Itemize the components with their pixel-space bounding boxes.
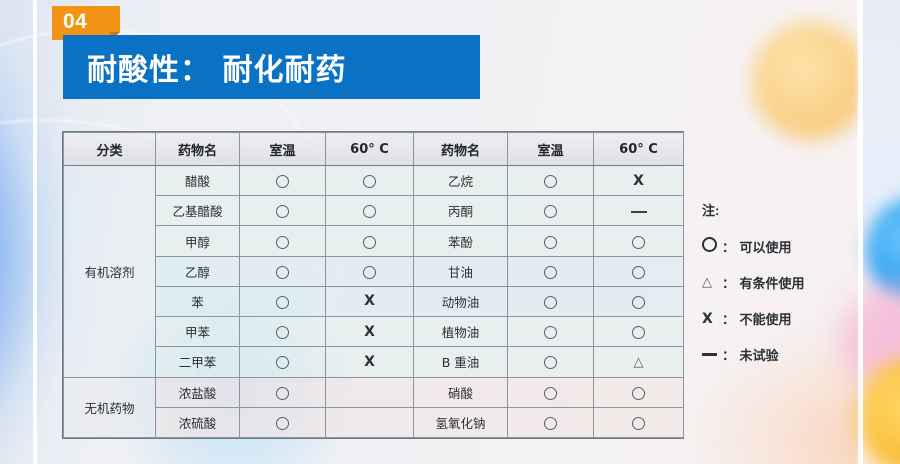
circle-icon (632, 236, 645, 249)
circle-icon (363, 205, 376, 218)
legend-item-label: ： 不能使用 (722, 309, 792, 328)
table-row: 乙基醋酸 丙酮 (64, 196, 684, 226)
cell-drug-left: 苯 (156, 286, 240, 316)
cell-60-right (594, 317, 684, 347)
cell-60-left (326, 256, 414, 286)
circle-icon (544, 296, 557, 309)
circle-icon (544, 356, 557, 369)
cross-icon: X (633, 173, 644, 189)
table-row: 甲苯 X 植物油 (64, 317, 684, 347)
triangle-icon: △ (702, 275, 722, 290)
circle-icon (544, 205, 557, 218)
cross-icon: X (702, 311, 722, 327)
legend-item-label: ： 未试验 (722, 345, 779, 364)
cell-drug-right: 硝酸 (414, 377, 508, 407)
circle-icon (544, 266, 557, 279)
circle-icon (276, 236, 289, 249)
cell-rt-right (508, 407, 594, 437)
circle-icon (544, 175, 557, 188)
circle-icon (276, 175, 289, 188)
cell-drug-right: 动物油 (414, 286, 508, 316)
chemical-resistance-table-container: 分类 药物名 室温 60° C 药物名 室温 60° C 有机溶剂 醋酸 乙烷 (62, 131, 684, 439)
cell-drug-right: B 重油 (414, 347, 508, 377)
cell-rt-right (508, 317, 594, 347)
cell-rt-right (508, 347, 594, 377)
table-row: 二甲苯 X B 重油 △ (64, 347, 684, 377)
cell-drug-left: 乙醇 (156, 256, 240, 286)
circle-icon (632, 266, 645, 279)
th-roomtemp-right: 室温 (508, 133, 594, 166)
circle-icon (363, 266, 376, 279)
cell-rt-right (508, 226, 594, 256)
table-row: 苯 X 动物油 (64, 286, 684, 316)
cell-60-left: X (326, 286, 414, 316)
cell-60-right (594, 226, 684, 256)
circle-icon (544, 387, 557, 400)
circle-icon (276, 387, 289, 400)
circle-icon (276, 326, 289, 339)
cross-icon: X (364, 293, 375, 309)
th-category: 分类 (64, 133, 156, 166)
circle-icon (544, 326, 557, 339)
legend-item-usable: ： 可以使用 (702, 237, 852, 256)
cross-icon: X (364, 354, 375, 370)
table-row: 乙醇 甘油 (64, 256, 684, 286)
cell-rt-left (240, 347, 326, 377)
circle-icon (276, 296, 289, 309)
cell-rt-right (508, 256, 594, 286)
section-title-bar: 耐酸性： 耐化耐药 (63, 35, 480, 99)
cell-drug-right: 氢氧化钠 (414, 407, 508, 437)
cell-rt-left (240, 196, 326, 226)
th-60c-left: 60° C (326, 133, 414, 166)
page-title: 耐酸性： 耐化耐药 (63, 45, 346, 89)
cell-60-right (594, 286, 684, 316)
cell-drug-right: 苯酚 (414, 226, 508, 256)
cell-drug-left: 醋酸 (156, 166, 240, 196)
cell-60-left (326, 407, 414, 437)
cell-rt-left (240, 226, 326, 256)
cell-rt-right (508, 286, 594, 316)
th-drug-right: 药物名 (414, 133, 508, 166)
cell-60-right: △ (594, 347, 684, 377)
background-orange-circle-top (752, 22, 870, 140)
table-row: 甲醇 苯酚 (64, 226, 684, 256)
cell-drug-left: 甲醇 (156, 226, 240, 256)
legend-item-label: ： 可以使用 (722, 237, 792, 256)
circle-icon (276, 417, 289, 430)
background-left-divider (33, 0, 37, 464)
cell-60-left (326, 166, 414, 196)
th-roomtemp-left: 室温 (240, 133, 326, 166)
table-header-row: 分类 药物名 室温 60° C 药物名 室温 60° C (64, 133, 684, 166)
legend-item-unusable: X ： 不能使用 (702, 309, 852, 328)
circle-icon (632, 417, 645, 430)
cell-rt-left (240, 317, 326, 347)
circle-icon (276, 266, 289, 279)
cell-category-organic: 有机溶剂 (64, 166, 156, 378)
cell-drug-left: 浓盐酸 (156, 377, 240, 407)
cell-60-left (326, 377, 414, 407)
circle-icon (363, 175, 376, 188)
cell-rt-left (240, 407, 326, 437)
circle-icon (632, 326, 645, 339)
cell-drug-right: 丙酮 (414, 196, 508, 226)
circle-icon (276, 356, 289, 369)
legend: 注: ： 可以使用 △ ： 有条件使用 X ： 不能使用 ： 未试验 (702, 200, 852, 381)
background-right-divider (858, 0, 863, 464)
cell-drug-right: 植物油 (414, 317, 508, 347)
cell-60-left: X (326, 347, 414, 377)
cell-60-right: X (594, 166, 684, 196)
cell-drug-left: 甲苯 (156, 317, 240, 347)
cell-drug-right: 乙烷 (414, 166, 508, 196)
legend-note-label: 注: (702, 200, 852, 219)
slide-canvas: 04 耐酸性： 耐化耐药 分类 药物名 室温 60° C 药物名 室温 60° … (0, 0, 900, 464)
circle-icon (363, 236, 376, 249)
circle-icon (544, 236, 557, 249)
legend-item-conditional: △ ： 有条件使用 (702, 273, 852, 292)
cell-60-left (326, 226, 414, 256)
circle-icon (702, 237, 722, 256)
cell-drug-left: 二甲苯 (156, 347, 240, 377)
cell-rt-left (240, 377, 326, 407)
chemical-resistance-table: 分类 药物名 室温 60° C 药物名 室温 60° C 有机溶剂 醋酸 乙烷 (63, 132, 684, 438)
cell-60-left (326, 196, 414, 226)
th-60c-right: 60° C (594, 133, 684, 166)
cell-category-inorganic: 无机药物 (64, 377, 156, 437)
cell-60-left: X (326, 317, 414, 347)
cell-rt-left (240, 256, 326, 286)
circle-icon (544, 417, 557, 430)
cross-icon: X (364, 324, 375, 340)
circle-icon (632, 296, 645, 309)
triangle-icon: △ (634, 356, 644, 369)
cell-rt-right (508, 196, 594, 226)
cell-60-right (594, 377, 684, 407)
table-row: 浓硫酸 氢氧化钠 (64, 407, 684, 437)
legend-item-label: ： 有条件使用 (722, 273, 805, 292)
circle-icon (632, 387, 645, 400)
table-row: 有机溶剂 醋酸 乙烷 X (64, 166, 684, 196)
cell-drug-left: 浓硫酸 (156, 407, 240, 437)
circle-icon (276, 205, 289, 218)
cell-60-right (594, 196, 684, 226)
legend-item-untested: ： 未试验 (702, 345, 852, 364)
cell-drug-right: 甘油 (414, 256, 508, 286)
th-drug-left: 药物名 (156, 133, 240, 166)
cell-rt-right (508, 377, 594, 407)
dash-icon (631, 211, 647, 213)
cell-60-right (594, 256, 684, 286)
table-body: 有机溶剂 醋酸 乙烷 X 乙基醋酸 丙酮 甲醇 (64, 166, 684, 438)
cell-drug-left: 乙基醋酸 (156, 196, 240, 226)
dash-icon (702, 347, 722, 362)
cell-60-right (594, 407, 684, 437)
table-row: 无机药物 浓盐酸 硝酸 (64, 377, 684, 407)
cell-rt-left (240, 286, 326, 316)
cell-rt-right (508, 166, 594, 196)
cell-rt-left (240, 166, 326, 196)
